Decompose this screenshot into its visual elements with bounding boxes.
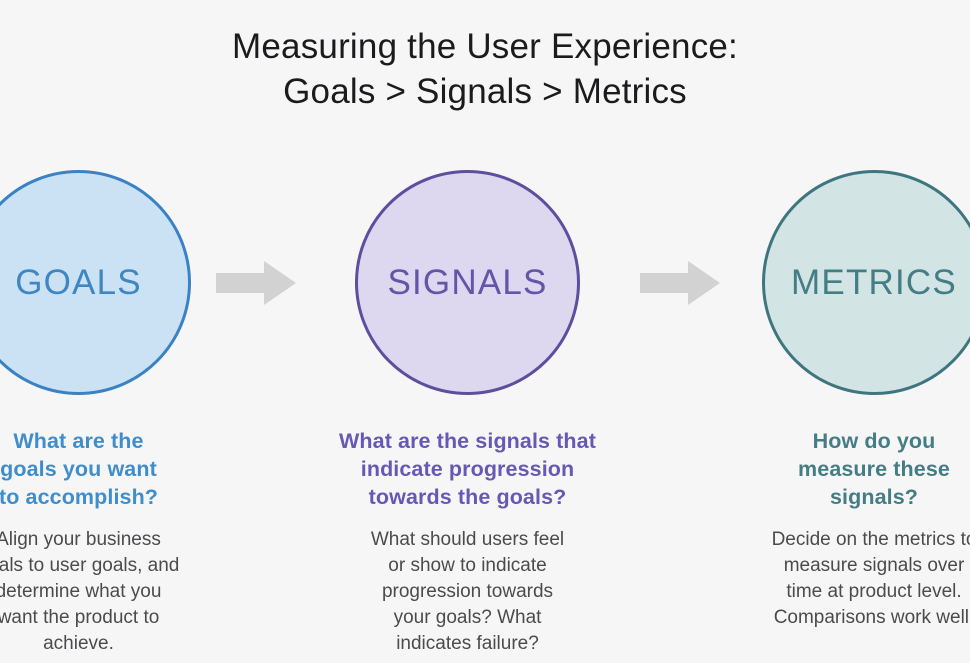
stage-heading-metrics-line-1: How do you [759,427,970,455]
stage-circle-metrics: METRICS [762,170,970,395]
stage-body-goals-line-5: achieve. [0,631,204,657]
stage-circle-label-goals: GOALS [15,263,142,303]
stage-circle-label-metrics: METRICS [791,263,957,303]
stage-heading-signals-line-1: What are the signals that [313,427,623,455]
stage-body-metrics-line-3: time at product level. [732,579,970,605]
stages-row: GOALS What are the goals you want to acc… [0,170,970,657]
stage-body-goals-line-3: determine what you [0,579,204,605]
stage-heading-signals-line-3: towards the goals? [313,483,623,511]
stage-column-metrics: METRICS How do you measure these signals… [732,170,970,631]
stage-heading-signals-line-2: indicate progression [313,455,623,483]
stage-body-goals-line-4: want the product to [0,605,204,631]
stage-column-goals: GOALS What are the goals you want to acc… [0,170,204,657]
stage-heading-goals-line-3: to accomplish? [0,483,204,511]
stage-body-signals-line-4: your goals? What [338,605,598,631]
page-title-line-2: Goals > Signals > Metrics [0,69,970,114]
arrow-signals-to-metrics [628,170,732,395]
stage-circle-signals: SIGNALS [355,170,580,395]
stage-body-signals-line-2: or show to indicate [338,553,598,579]
stage-heading-goals-line-2: goals you want [0,455,204,483]
stage-heading-goals-line-1: What are the [0,427,204,455]
stage-body-metrics-line-4: Comparisons work well. [732,605,970,631]
stage-body-metrics-line-2: measure signals over [732,553,970,579]
stage-body-goals-line-1: Align your business [0,527,204,553]
arrow-goals-to-signals [204,170,308,395]
stage-body-signals-line-3: progression towards [338,579,598,605]
diagram-canvas: Measuring the User Experience: Goals > S… [0,0,970,663]
block-arrow-right-icon [216,259,296,307]
page-title: Measuring the User Experience: Goals > S… [0,24,970,114]
stage-heading-metrics: How do you measure these signals? [759,427,970,511]
stage-heading-goals: What are the goals you want to accomplis… [0,427,204,511]
stage-body-goals-line-2: goals to user goals, and [0,553,204,579]
stage-body-metrics: Decide on the metrics to measure signals… [732,527,970,631]
block-arrow-right-icon [640,259,720,307]
stage-body-signals: What should users feel or show to indica… [338,527,598,657]
stage-heading-signals: What are the signals that indicate progr… [313,427,623,511]
stage-column-signals: SIGNALS What are the signals that indica… [318,170,618,657]
stage-body-signals-line-5: indicates failure? [338,631,598,657]
stage-body-goals: Align your business goals to user goals,… [0,527,204,657]
stage-heading-metrics-line-3: signals? [759,483,970,511]
stage-body-metrics-line-1: Decide on the metrics to [732,527,970,553]
stage-heading-metrics-line-2: measure these [759,455,970,483]
stage-circle-label-signals: SIGNALS [387,263,547,303]
stage-body-signals-line-1: What should users feel [338,527,598,553]
stage-circle-goals: GOALS [0,170,191,395]
page-title-line-1: Measuring the User Experience: [0,24,970,69]
